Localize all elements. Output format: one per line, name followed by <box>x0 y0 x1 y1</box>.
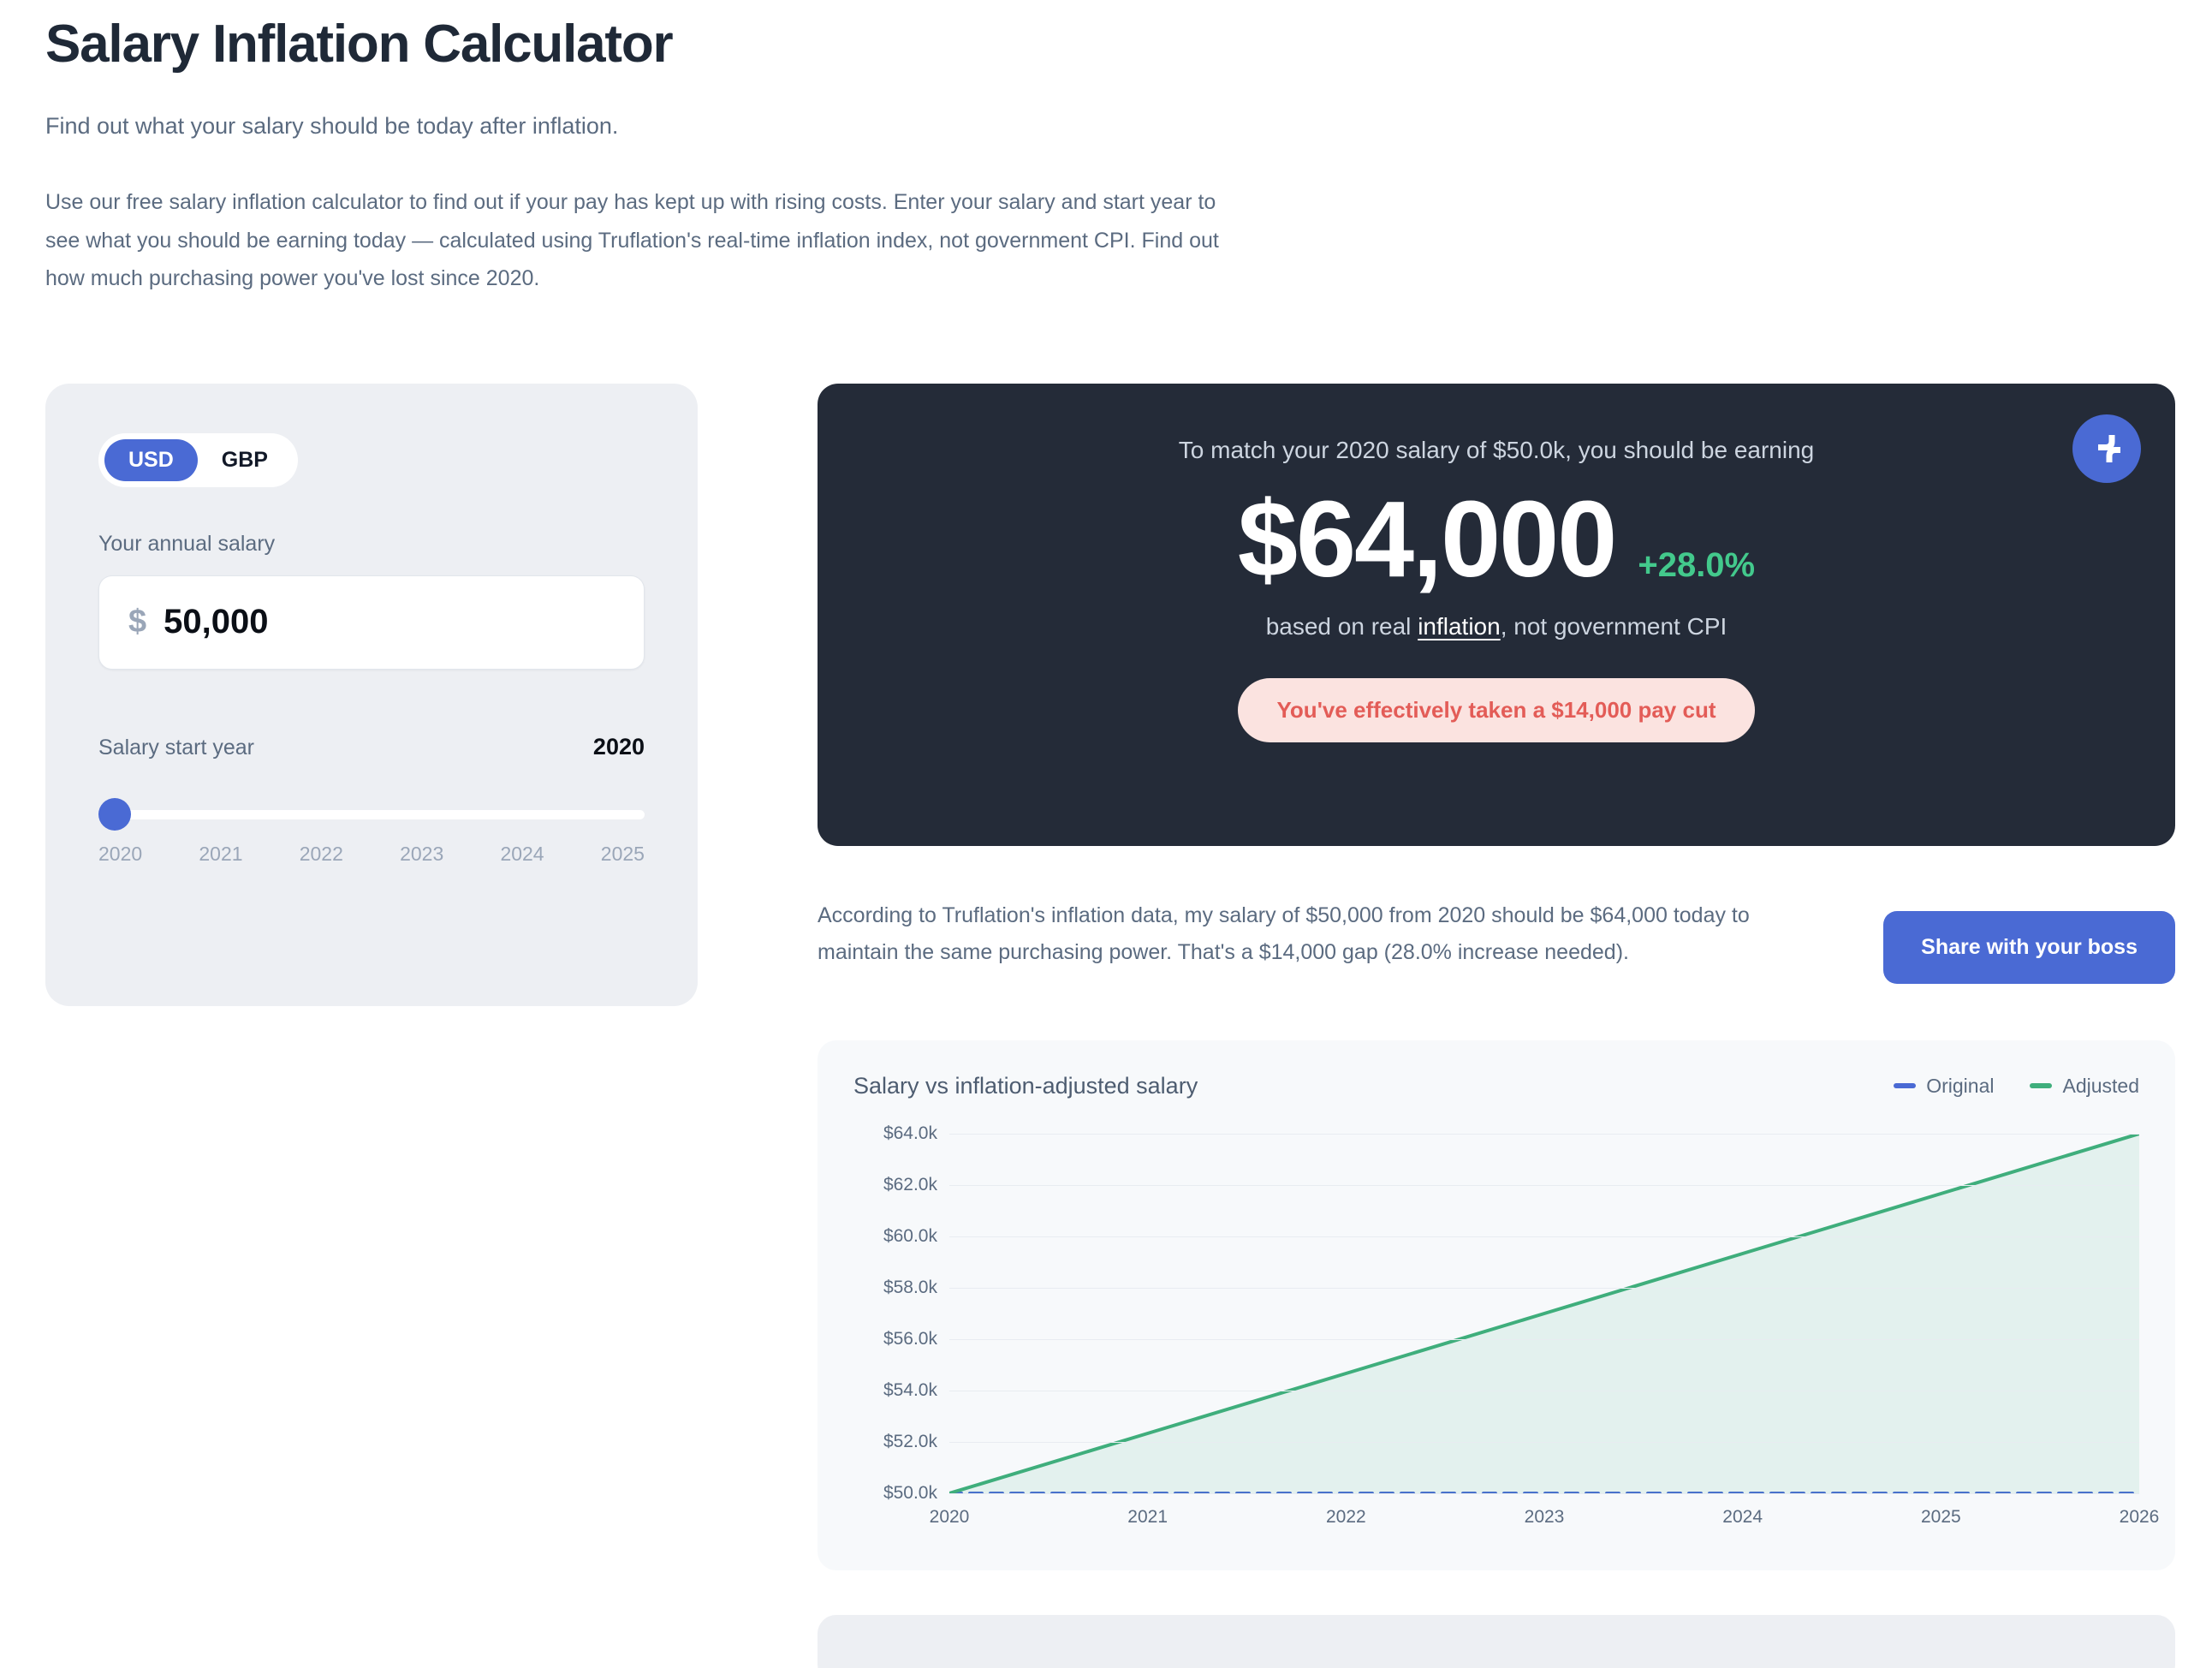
year-selected-value: 2020 <box>593 734 645 760</box>
salary-field-label: Your annual salary <box>98 532 645 557</box>
chart-gridline <box>949 1493 2139 1494</box>
chart-x-axis: 2020202120222023202420252026 <box>949 1507 2139 1541</box>
chart-y-tick-label: $56.0k <box>883 1329 937 1349</box>
chart-title: Salary vs inflation-adjusted salary <box>853 1073 1198 1099</box>
chart-y-tick-label: $54.0k <box>883 1380 937 1401</box>
year-slider-track[interactable] <box>98 810 645 819</box>
chart-y-tick-label: $60.0k <box>883 1226 937 1247</box>
currency-toggle[interactable]: USD GBP <box>98 433 298 487</box>
chart-x-tick-label: 2021 <box>1127 1507 1168 1528</box>
chart-gridline <box>949 1339 2139 1340</box>
slider-tick: 2021 <box>199 843 242 866</box>
salary-input-wrapper[interactable]: $ <box>98 575 645 670</box>
chart-header: Salary vs inflation-adjusted salary Orig… <box>853 1073 2139 1099</box>
result-subtext-prefix: based on real <box>1266 613 1418 640</box>
slider-tick: 2023 <box>400 843 443 866</box>
slider-tick: 2020 <box>98 843 142 866</box>
currency-option-gbp[interactable]: GBP <box>198 439 292 481</box>
chart-gridline <box>949 1134 2139 1135</box>
page-subtitle: Find out what your salary should be toda… <box>45 110 2212 143</box>
chart-x-tick-label: 2023 <box>1525 1507 1565 1528</box>
chart-y-tick-label: $64.0k <box>883 1123 937 1144</box>
paycut-status-badge: You've effectively taken a $14,000 pay c… <box>1238 678 1756 742</box>
truflation-logo-icon <box>2072 414 2141 483</box>
legend-label-original: Original <box>1926 1075 1994 1098</box>
page-title: Salary Inflation Calculator <box>45 14 2212 74</box>
currency-option-usd[interactable]: USD <box>104 439 198 481</box>
chart-x-tick-label: 2022 <box>1326 1507 1366 1528</box>
calculator-card: USD GBP Your annual salary $ Salary star… <box>45 384 698 1006</box>
salary-chart-card: Salary vs inflation-adjusted salary Orig… <box>818 1040 2175 1570</box>
salary-input[interactable] <box>164 603 615 641</box>
chart-gridline <box>949 1442 2139 1443</box>
legend-item-adjusted: Adjusted <box>2030 1075 2139 1098</box>
share-summary-text: According to Truflation's inflation data… <box>818 897 1802 971</box>
legend-label-adjusted: Adjusted <box>2062 1075 2139 1098</box>
chart-plot-area: $64.0k$62.0k$60.0k$58.0k$56.0k$54.0k$52.… <box>853 1134 2139 1493</box>
year-slider-ticks: 2020 2021 2022 2023 2024 2025 <box>98 843 645 866</box>
chart-y-tick-label: $50.0k <box>883 1483 937 1504</box>
calculator-column: USD GBP Your annual salary $ Salary star… <box>45 384 698 1006</box>
inflation-link[interactable]: inflation <box>1418 613 1501 640</box>
result-delta-percent: +28.0% <box>1638 546 1755 585</box>
chart-x-tick-label: 2026 <box>2120 1507 2160 1528</box>
result-subtext-suffix: , not government CPI <box>1501 613 1727 640</box>
chart-y-tick-label: $52.0k <box>883 1432 937 1452</box>
next-section-card <box>818 1615 2175 1668</box>
main-columns: USD GBP Your annual salary $ Salary star… <box>45 384 2212 1668</box>
year-slider[interactable] <box>98 796 645 832</box>
results-column: To match your 2020 salary of $50.0k, you… <box>818 384 2175 1668</box>
chart-y-tick-label: $62.0k <box>883 1175 937 1195</box>
share-row: According to Truflation's inflation data… <box>818 897 2175 984</box>
result-amount: $64,000 <box>1238 478 1615 602</box>
page-intro-paragraph: Use our free salary inflation calculator… <box>45 183 1227 298</box>
chart-x-tick-label: 2020 <box>930 1507 970 1528</box>
result-subtext: based on real inflation, not government … <box>869 613 2124 640</box>
result-lead-text: To match your 2020 salary of $50.0k, you… <box>869 437 2124 464</box>
legend-item-original: Original <box>1894 1075 1994 1098</box>
year-row: Salary start year 2020 <box>98 734 645 760</box>
chart-x-tick-label: 2024 <box>1722 1507 1763 1528</box>
slider-tick: 2022 <box>300 843 343 866</box>
slider-tick: 2024 <box>500 843 544 866</box>
chart-gridline <box>949 1236 2139 1237</box>
chart-y-tick-label: $58.0k <box>883 1278 937 1298</box>
chart-plot <box>949 1134 2139 1493</box>
legend-swatch-original <box>1894 1083 1916 1088</box>
chart-gridline <box>949 1391 2139 1391</box>
chart-gridline <box>949 1288 2139 1289</box>
legend-swatch-adjusted <box>2030 1083 2052 1088</box>
slider-tick: 2025 <box>601 843 645 866</box>
result-amount-row: $64,000 +28.0% <box>869 478 2124 602</box>
chart-legend: Original Adjusted <box>1894 1075 2139 1098</box>
chart-gridline <box>949 1185 2139 1186</box>
page-root: Salary Inflation Calculator Find out wha… <box>0 14 2212 1668</box>
chart-y-axis: $64.0k$62.0k$60.0k$58.0k$56.0k$54.0k$52.… <box>853 1134 949 1493</box>
currency-symbol-icon: $ <box>128 604 146 640</box>
chart-x-tick-label: 2025 <box>1921 1507 1961 1528</box>
share-with-boss-button[interactable]: Share with your boss <box>1883 911 2175 984</box>
year-field-label: Salary start year <box>98 736 254 760</box>
year-slider-thumb[interactable] <box>98 798 131 831</box>
result-card: To match your 2020 salary of $50.0k, you… <box>818 384 2175 846</box>
